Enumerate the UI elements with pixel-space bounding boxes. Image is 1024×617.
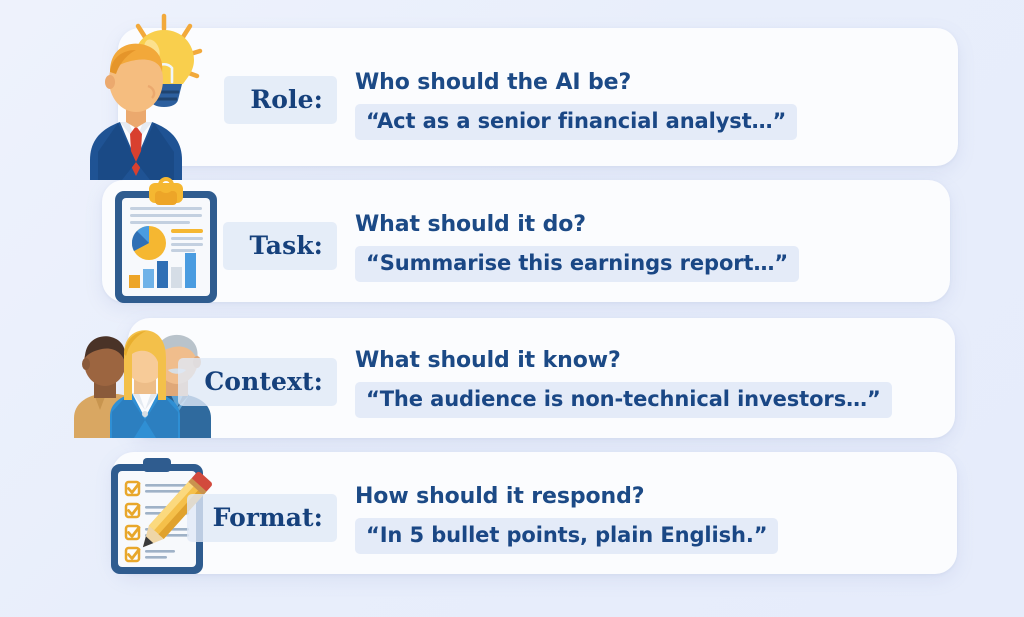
label-chip-context: Context: [178,358,337,406]
row-task: Task: What should it do? “Summarise this… [0,180,1024,302]
label-context: Context: [204,367,323,396]
quote-role: “Act as a senior financial analyst…” [355,104,797,140]
question-format: How should it respond? [355,484,778,509]
row-context: Context: What should it know? “The audie… [0,318,1024,438]
label-format: Format: [213,503,323,532]
text-block-format: How should it respond? “In 5 bullet poin… [355,484,778,554]
label-chip-role: Role: [224,76,337,124]
prompt-framework-infographic: Role: Who should the AI be? “Act as a se… [0,0,1024,617]
quote-format: “In 5 bullet points, plain English.” [355,518,778,554]
label-role: Role: [250,85,323,114]
text-block-role: Who should the AI be? “Act as a senior f… [355,70,797,140]
label-chip-task: Task: [223,222,337,270]
quote-task: “Summarise this earnings report…” [355,246,799,282]
label-task: Task: [249,231,323,260]
businessman-lightbulb-icon [72,10,222,180]
question-context: What should it know? [355,348,892,373]
text-block-context: What should it know? “The audience is no… [355,348,892,418]
row-role: Role: Who should the AI be? “Act as a se… [0,28,1024,166]
text-block-task: What should it do? “Summarise this earni… [355,212,799,282]
row-format: Format: How should it respond? “In 5 bul… [0,452,1024,574]
label-chip-format: Format: [187,494,337,542]
question-task: What should it do? [355,212,799,237]
clipboard-chart-icon [96,172,236,312]
question-role: Who should the AI be? [355,70,797,95]
quote-context: “The audience is non-technical investors… [355,382,892,418]
